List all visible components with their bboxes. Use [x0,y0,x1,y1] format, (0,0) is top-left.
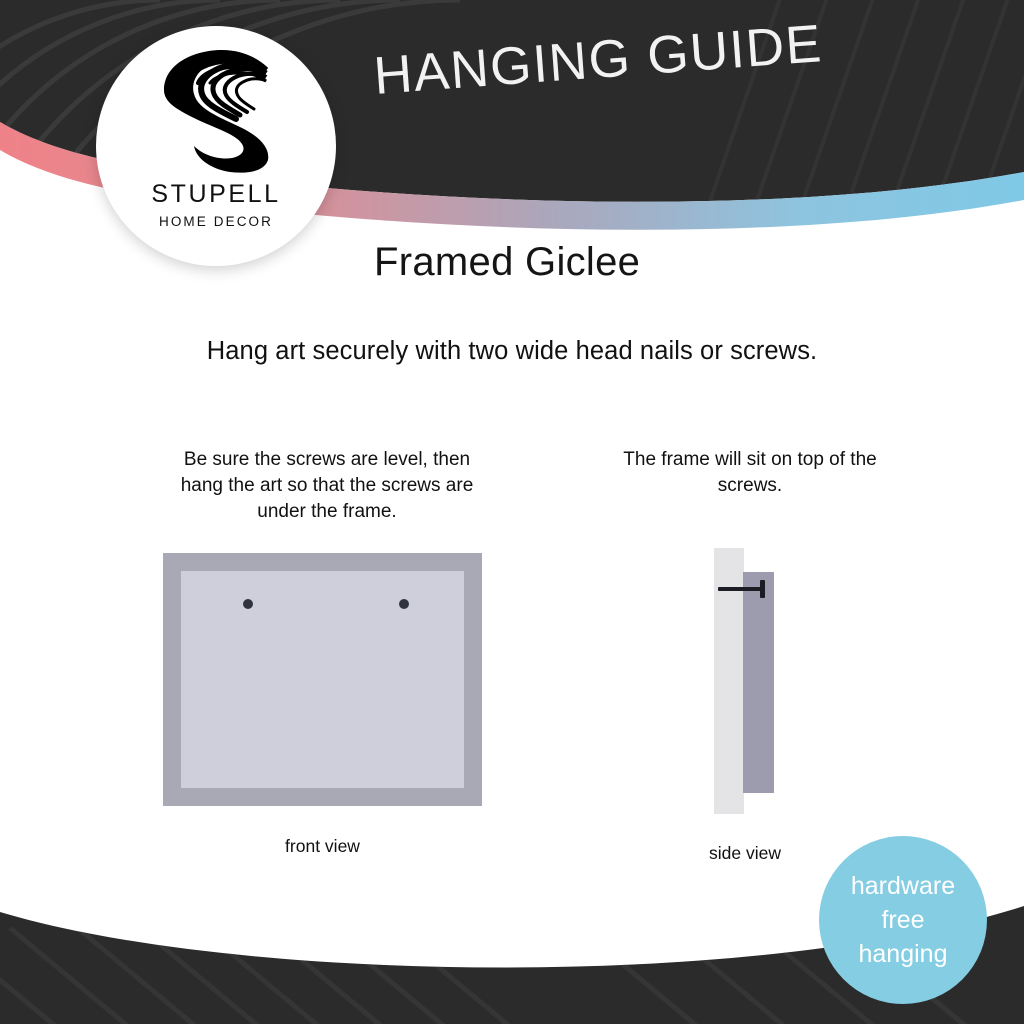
side-view-caption: The frame will sit on top of the screws. [600,447,900,499]
front-view-artwork-mat [181,571,464,788]
screw-dot-right [399,599,409,609]
hardware-free-hanging-badge: hardware free hanging [819,836,987,1004]
nail-shaft-icon [718,587,765,591]
side-view-diagram [700,546,790,816]
stupell-swoosh-icon [160,44,272,174]
frame-strip [743,572,774,793]
badge-line-2: free [881,903,924,937]
brand-logo-badge: STUPELL HOME DECOR [96,26,336,266]
page-title: HANGING GUIDE [372,13,825,107]
product-name: Framed Giclee [374,240,640,285]
screw-dot-left [243,599,253,609]
badge-line-3: hanging [859,937,948,971]
front-view-label: front view [163,836,482,857]
brand-name: STUPELL [151,180,280,209]
front-view-diagram [163,553,482,806]
brand-tagline: HOME DECOR [159,214,273,229]
main-instruction: Hang art securely with two wide head nai… [0,337,1024,366]
hanging-guide-poster: STUPELL HOME DECOR HANGING GUIDE Framed … [0,0,1024,1024]
side-view-label: side view [660,843,830,864]
nail-head-icon [760,580,765,598]
badge-line-1: hardware [851,869,955,903]
front-view-caption: Be sure the screws are level, then hang … [162,447,492,525]
